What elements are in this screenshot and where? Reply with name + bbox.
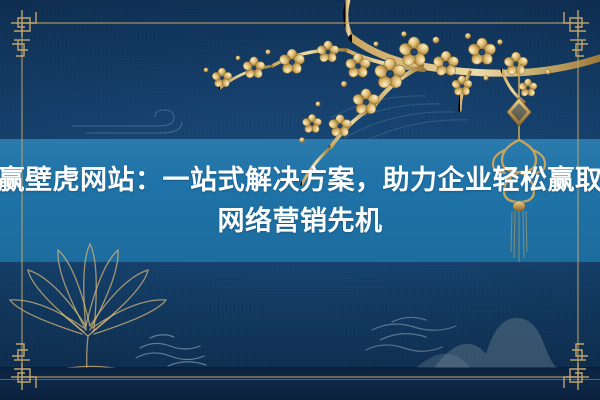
banner-image: 赢壁虎网站：一站式解决方案，助力企业轻松赢取 网络营销先机: [0, 0, 600, 400]
headline-line-1: 赢壁虎网站：一站式解决方案，助力企业轻松赢取: [0, 160, 600, 201]
bottom-ledge: [0, 368, 600, 400]
headline: 赢壁虎网站：一站式解决方案，助力企业轻松赢取 网络营销先机: [0, 139, 600, 262]
headline-line-2: 网络营销先机: [218, 201, 383, 242]
ledge-gold-line: [0, 379, 600, 380]
